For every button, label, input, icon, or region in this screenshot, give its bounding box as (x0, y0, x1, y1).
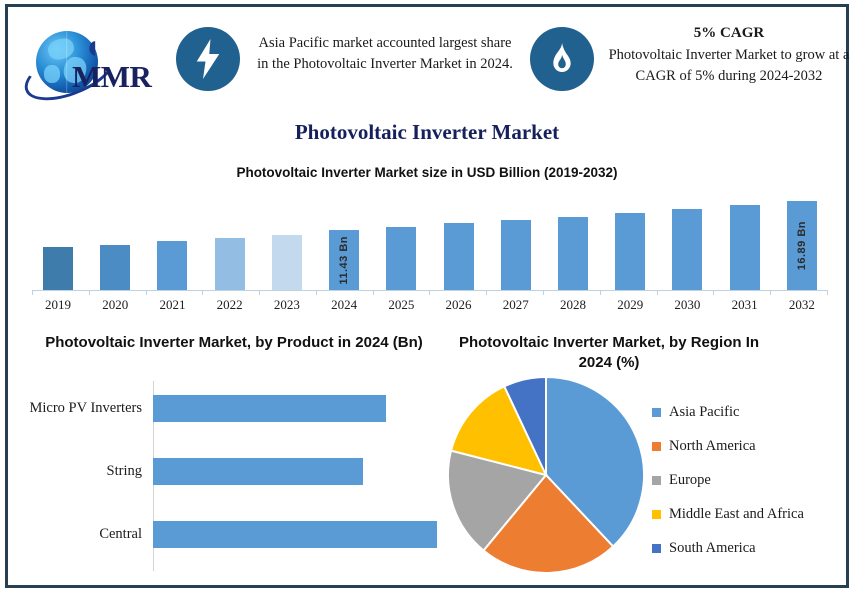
bar-chart-title: Photovoltaic Inverter Market size in USD… (8, 165, 846, 180)
region-pie-legend: Asia PacificNorth AmericaEuropeMiddle Ea… (652, 395, 852, 565)
bar-2026 (444, 223, 474, 290)
axis-tick (600, 290, 601, 295)
logo-brand-text: MMR (72, 59, 151, 95)
market-by-region-chart: Photovoltaic Inverter Market, by Region … (444, 333, 846, 579)
legend-label: Europe (669, 472, 711, 489)
x-axis-label-2023: 2023 (261, 297, 313, 313)
bar-2024: 11.43 Bn (329, 230, 359, 290)
legend-item-middle-east-and-africa: Middle East and Africa (652, 497, 852, 531)
product-chart-title: Photovoltaic Inverter Market, by Product… (24, 333, 444, 353)
cagr-headline: 5% CAGR (604, 23, 854, 44)
legend-swatch (652, 442, 661, 451)
axis-tick (316, 290, 317, 295)
x-axis-label-2024: 2024 (318, 297, 370, 313)
legend-item-asia-pacific: Asia Pacific (652, 395, 852, 429)
legend-swatch (652, 476, 661, 485)
market-size-bar-chart: Photovoltaic Inverter Market size in USD… (8, 165, 846, 315)
x-axis-label-2031: 2031 (719, 297, 771, 313)
x-axis-label-2020: 2020 (89, 297, 141, 313)
x-axis-label-2025: 2025 (375, 297, 427, 313)
header-statement-2: 5% CAGR Photovoltaic Inverter Market to … (604, 23, 854, 87)
product-label-micro-pv-inverters: Micro PV Inverters (24, 400, 148, 417)
x-axis-label-2032: 2032 (776, 297, 828, 313)
product-bar-string (153, 458, 363, 485)
legend-label: North America (669, 438, 756, 455)
legend-label: Asia Pacific (669, 404, 739, 421)
axis-tick (32, 290, 33, 295)
axis-tick (827, 290, 828, 295)
bar-2023 (272, 235, 302, 290)
product-bar-row: Central (24, 509, 444, 559)
bar-column: 16.89 Bn (776, 201, 828, 290)
header-statement-1: Asia Pacific market accounted largest sh… (254, 33, 516, 75)
legend-swatch (652, 408, 661, 417)
legend-item-south-america: South America (652, 531, 852, 565)
infographic-frame: ◖ MMR Asia Pacific market accounted larg… (5, 4, 849, 588)
bar-2022 (215, 238, 245, 290)
bar-column (719, 205, 771, 290)
bar-2027 (501, 220, 531, 290)
product-bar-row: String (24, 446, 444, 496)
bar-column (375, 227, 427, 290)
mmr-logo: ◖ MMR (16, 15, 156, 107)
x-axis-label-2019: 2019 (32, 297, 84, 313)
axis-tick (486, 290, 487, 295)
axis-tick (770, 290, 771, 295)
bar-column (204, 238, 256, 290)
axis-tick (373, 290, 374, 295)
x-axis-label-2027: 2027 (490, 297, 542, 313)
bar-2030 (672, 209, 702, 290)
legend-swatch (652, 544, 661, 553)
product-bar-central (153, 521, 437, 548)
bar-chart-ticks (32, 290, 828, 295)
axis-tick (543, 290, 544, 295)
bar-column (490, 220, 542, 290)
market-by-product-chart: Photovoltaic Inverter Market, by Product… (24, 333, 444, 579)
x-axis-label-2026: 2026 (433, 297, 485, 313)
bar-column (89, 245, 141, 290)
bar-2020 (100, 245, 130, 290)
product-bar-micro-pv-inverters (153, 395, 386, 422)
bar-column (261, 235, 313, 290)
axis-tick (89, 290, 90, 295)
bar-chart-x-labels: 2019202020212022202320242025202620272028… (32, 297, 828, 313)
flame-icon (530, 27, 594, 91)
bar-column (32, 247, 84, 290)
region-chart-title: Photovoltaic Inverter Market, by Region … (444, 333, 774, 373)
bar-chart-plot: 11.43 Bn16.89 Bn (32, 187, 828, 290)
region-pie-svg (446, 375, 646, 575)
bar-column: 11.43 Bn (318, 230, 370, 290)
bar-column (604, 213, 656, 290)
x-axis-label-2021: 2021 (146, 297, 198, 313)
product-label-string: String (24, 463, 148, 480)
lightning-bolt-icon (176, 27, 240, 91)
header: ◖ MMR Asia Pacific market accounted larg… (8, 7, 846, 113)
bar-column (433, 223, 485, 290)
x-axis-label-2029: 2029 (604, 297, 656, 313)
bar-column (661, 209, 713, 290)
legend-label: South America (669, 540, 756, 557)
cagr-description: Photovoltaic Inverter Market to grow at … (609, 47, 850, 84)
product-chart-plot: Micro PV InvertersStringCentral (24, 381, 444, 571)
product-bar-row: Micro PV Inverters (24, 383, 444, 433)
axis-tick (657, 290, 658, 295)
legend-swatch (652, 510, 661, 519)
bar-value-label: 16.89 Bn (796, 221, 808, 270)
bar-2025 (386, 227, 416, 290)
x-axis-label-2022: 2022 (204, 297, 256, 313)
axis-tick (259, 290, 260, 295)
bar-column (146, 241, 198, 290)
bar-2028 (558, 217, 588, 290)
bar-2031 (730, 205, 760, 290)
bar-2032: 16.89 Bn (787, 201, 817, 290)
bar-column (547, 217, 599, 290)
legend-label: Middle East and Africa (669, 506, 804, 523)
axis-tick (202, 290, 203, 295)
axis-tick (429, 290, 430, 295)
page-title: Photovoltaic Inverter Market (8, 120, 846, 145)
bar-value-label: 11.43 Bn (338, 236, 350, 285)
bar-2021 (157, 241, 187, 290)
legend-item-north-america: North America (652, 429, 852, 463)
axis-tick (713, 290, 714, 295)
axis-tick (146, 290, 147, 295)
legend-item-europe: Europe (652, 463, 852, 497)
product-label-central: Central (24, 526, 148, 543)
bar-2029 (615, 213, 645, 290)
bar-2019 (43, 247, 73, 290)
x-axis-label-2028: 2028 (547, 297, 599, 313)
x-axis-label-2030: 2030 (661, 297, 713, 313)
